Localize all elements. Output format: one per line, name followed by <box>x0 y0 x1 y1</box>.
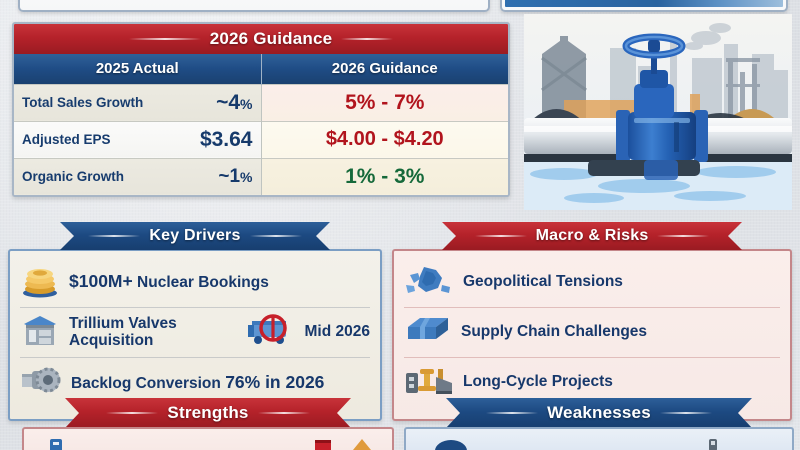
list-item-label: Geopolitical Tensions <box>463 274 623 290</box>
banner-rule-right <box>258 412 310 414</box>
list-item: Geopolitical Tensions <box>404 257 780 307</box>
list-item: Trillium Valves Acquisition Mid 2026 <box>20 307 370 357</box>
banner-rule-right <box>660 412 712 414</box>
weaknesses-banner-title: Weaknesses <box>547 403 651 423</box>
list-item-label: $100M+ Nuclear Bookings <box>69 272 269 291</box>
guidance-banner: 2026 Guidance <box>14 24 508 54</box>
banner-rule-right <box>657 235 709 237</box>
key-drivers-banner: Key Drivers <box>60 222 330 250</box>
driver-text: Nuclear Bookings <box>133 274 269 291</box>
guidance-banner-title: 2026 Guidance <box>210 29 333 49</box>
weaknesses-banner: Weaknesses <box>446 398 752 428</box>
driver-trailing: Mid 2026 <box>305 324 370 340</box>
row-guidance-value: 5% - 7% <box>345 91 424 114</box>
banner-rule-right <box>341 38 393 40</box>
strengths-icon-2 <box>314 437 332 450</box>
guidance-table: 2025 Actual 2026 Guidance Total Sales Gr… <box>14 54 508 195</box>
industrial-pipeline-valve-illustration <box>524 14 792 210</box>
strengths-body <box>22 427 394 450</box>
table-row: Organic Growth ~1% 1% - 3% <box>14 158 508 195</box>
driver-trailing: 76% in 2026 <box>225 372 324 392</box>
list-item: Supply Chain Challenges <box>404 307 780 357</box>
gold-coin-stack-icon <box>20 262 60 303</box>
list-item-label: Supply Chain Challenges <box>461 324 647 340</box>
banner-rule-right <box>250 235 302 237</box>
banner-rule-left <box>88 235 140 237</box>
macro-risks-panel: Macro & Risks Geopolitical Tensions <box>392 222 792 421</box>
banner-rule-left <box>106 412 158 414</box>
key-drivers-body: $100M+ Nuclear Bookings Trillium Valves <box>8 249 382 421</box>
strengths-icon-1 <box>48 437 64 450</box>
cell-2025-actual: Organic Growth ~1% <box>14 158 261 195</box>
cut-off-panel-right <box>500 0 788 12</box>
table-row: Total Sales Growth ~4% 5% - 7% <box>14 84 508 121</box>
cell-2026-guidance: 1% - 3% <box>261 158 508 195</box>
macro-risks-banner: Macro & Risks <box>442 222 742 250</box>
cell-2025-actual: Total Sales Growth ~4% <box>14 84 261 121</box>
column-header-2025-actual: 2025 Actual <box>14 54 261 84</box>
truck-no-entry-icon <box>246 313 296 352</box>
package-box-icon <box>404 315 452 350</box>
driver-highlight: $100M+ <box>69 271 133 291</box>
row-label: Total Sales Growth <box>22 95 143 110</box>
gear-machine-icon <box>20 365 62 400</box>
key-drivers-banner-title: Key Drivers <box>149 227 240 245</box>
list-item-label: Trillium Valves Acquisition <box>69 316 177 349</box>
strengths-icon-3 <box>352 437 372 450</box>
strengths-banner-title: Strengths <box>167 403 248 423</box>
cut-off-panel-left <box>18 0 490 12</box>
guidance-card: 2026 Guidance 2025 Actual 2026 Guidance … <box>12 22 510 197</box>
driver-text: Backlog Conversion <box>71 375 225 392</box>
heavy-machinery-icon <box>404 363 454 402</box>
factory-building-icon <box>20 311 60 354</box>
panel-progress-bar <box>505 0 783 7</box>
weaknesses-icon-2 <box>706 437 720 450</box>
macro-risks-banner-title: Macro & Risks <box>536 227 649 245</box>
row-actual-value: $3.64 <box>200 128 253 152</box>
strengths-panel: Strengths <box>22 398 394 450</box>
list-item-label: Long-Cycle Projects <box>463 374 613 390</box>
cell-2026-guidance: $4.00 - $4.20 <box>261 121 508 158</box>
guidance-table-body: Total Sales Growth ~4% 5% - 7% Adjusted … <box>14 84 508 195</box>
row-label: Adjusted EPS <box>22 132 111 147</box>
banner-rule-left <box>475 235 527 237</box>
row-guidance-value: 1% - 3% <box>345 165 424 188</box>
driver-text-line1: Trillium Valves <box>69 315 177 332</box>
banner-rule-left <box>486 412 538 414</box>
key-drivers-panel: Key Drivers $100M+ Nuclear Bookings <box>8 222 382 421</box>
row-guidance-value: $4.00 - $4.20 <box>326 128 444 150</box>
row-actual-value: ~1% <box>218 166 252 188</box>
weaknesses-icon-1 <box>434 437 468 450</box>
table-row: Adjusted EPS $3.64 $4.00 - $4.20 <box>14 121 508 158</box>
driver-text-line2: Acquisition <box>69 332 153 349</box>
cell-2026-guidance: 5% - 7% <box>261 84 508 121</box>
strengths-banner: Strengths <box>65 398 351 428</box>
weaknesses-panel: Weaknesses <box>404 398 794 450</box>
world-map-icon <box>404 263 454 302</box>
list-item: $100M+ Nuclear Bookings <box>20 257 370 307</box>
weaknesses-body <box>404 427 794 450</box>
infographic-page: 2026 Guidance 2025 Actual 2026 Guidance … <box>0 0 800 450</box>
banner-rule-left <box>129 38 201 40</box>
macro-risks-body: Geopolitical Tensions Supply Chain Chall… <box>392 249 792 421</box>
row-label: Organic Growth <box>22 169 124 184</box>
list-item-label: Backlog Conversion 76% in 2026 <box>71 373 324 392</box>
cell-2025-actual: Adjusted EPS $3.64 <box>14 121 261 158</box>
column-header-2026-guidance: 2026 Guidance <box>261 54 508 84</box>
row-actual-value: ~4% <box>216 91 252 115</box>
guidance-table-header: 2025 Actual 2026 Guidance <box>14 54 508 84</box>
